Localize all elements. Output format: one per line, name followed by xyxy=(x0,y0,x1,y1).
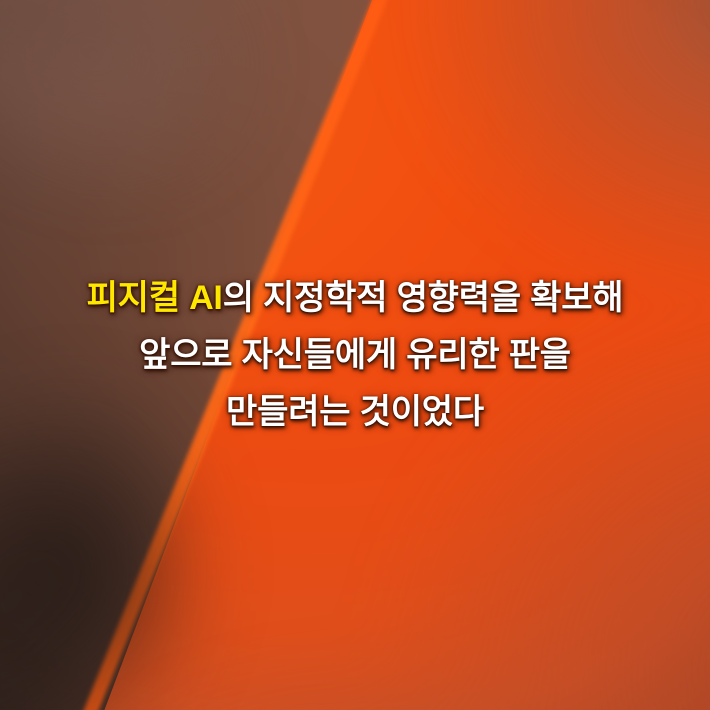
caption-line-2: 앞으로 자신들에게 유리한 판을 xyxy=(0,327,710,384)
caption-line-1: 피지컬 AI의 지정학적 영향력을 확보해 xyxy=(0,270,710,327)
caption-rest-2: 앞으로 자신들에게 유리한 판을 xyxy=(139,336,571,374)
caption-highlight-1: 피지컬 AI xyxy=(87,279,223,317)
background-smudge-top-left xyxy=(0,0,270,200)
social-card: 피지컬 AI의 지정학적 영향력을 확보해 앞으로 자신들에게 유리한 판을 만… xyxy=(0,0,710,710)
caption-block: 피지컬 AI의 지정학적 영향력을 확보해 앞으로 자신들에게 유리한 판을 만… xyxy=(0,270,710,441)
caption-line-3: 만들려는 것이었다 xyxy=(0,384,710,441)
caption-rest-3: 만들려는 것이었다 xyxy=(226,393,484,431)
caption-rest-1: 의 지정학적 영향력을 확보해 xyxy=(223,279,624,317)
